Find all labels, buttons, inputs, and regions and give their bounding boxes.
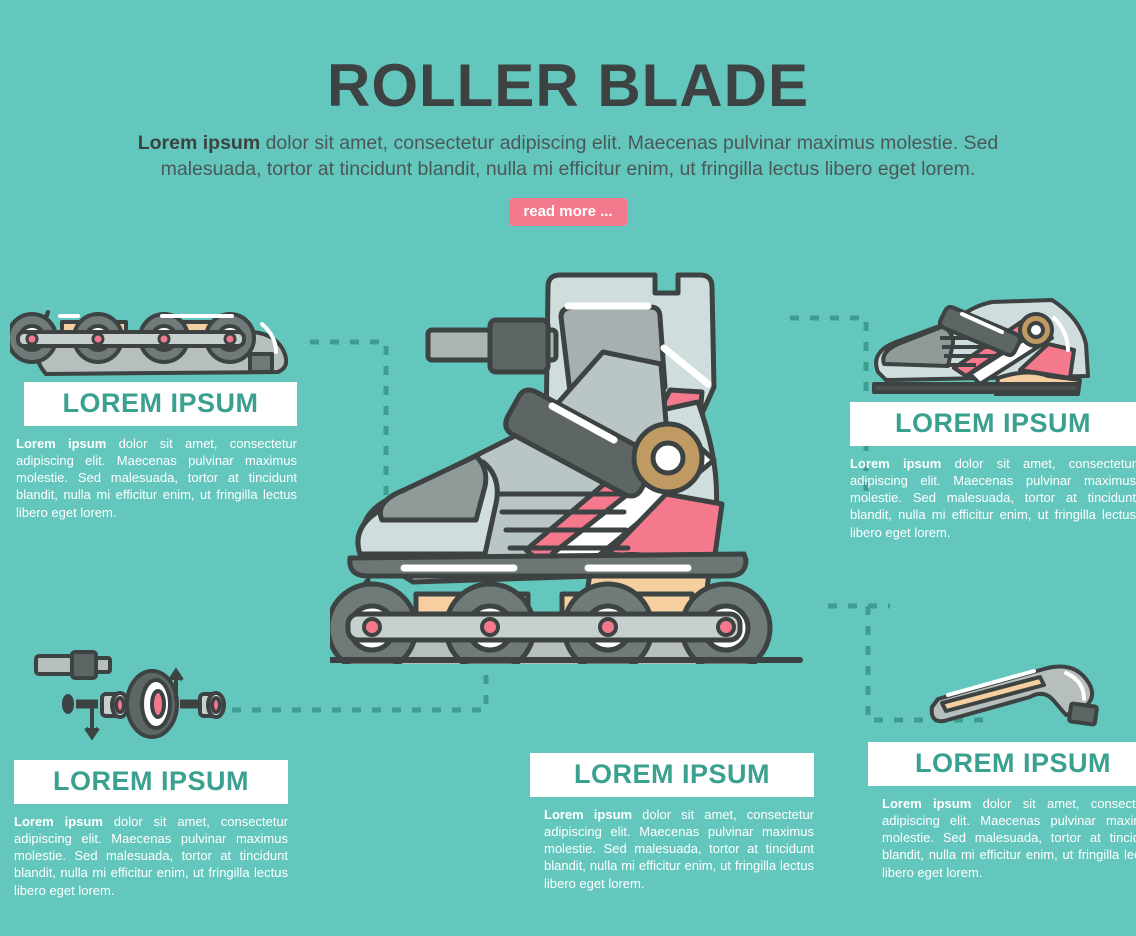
page-title: ROLLER BLADE bbox=[0, 54, 1136, 117]
wheel-nut bbox=[64, 696, 72, 712]
card-body-lead: Lorem ipsum bbox=[14, 814, 103, 829]
shoe-dial-inner bbox=[1029, 323, 1043, 337]
card-heading: LOREM IPSUM bbox=[14, 760, 288, 804]
wheel-tool-tip bbox=[96, 658, 110, 672]
brake-pad-mount bbox=[1069, 703, 1097, 724]
skate-buckle bbox=[490, 320, 548, 372]
info-card-frame: LOREM IPSUM Lorem ipsum dolor sit amet, … bbox=[0, 382, 297, 521]
subtitle-rest: dolor sit amet, consectetur adipiscing e… bbox=[161, 132, 999, 180]
page-header: ROLLER BLADE Lorem ipsum dolor sit amet,… bbox=[0, 54, 1136, 226]
skate-axle-rail-front bbox=[348, 614, 740, 640]
card-body: Lorem ipsum dolor sit amet, consectetur … bbox=[850, 455, 1136, 541]
card-body: Lorem ipsum dolor sit amet, consectetur … bbox=[16, 435, 297, 521]
wheel-exploded-illustration bbox=[30, 650, 230, 750]
wheel-spacer-left bbox=[102, 693, 128, 717]
page-subtitle: Lorem ipsum dolor sit amet, consectetur … bbox=[123, 131, 1013, 182]
skate-toe-overlay bbox=[380, 456, 485, 520]
card-body-lead: Lorem ipsum bbox=[544, 807, 632, 822]
skate-dial-inner bbox=[653, 443, 683, 473]
info-card-wheel: LOREM IPSUM Lorem ipsum dolor sit amet, … bbox=[0, 760, 288, 899]
card-body: Lorem ipsum dolor sit amet, consectetur … bbox=[882, 795, 1136, 881]
skate-frame-illustration bbox=[10, 298, 310, 376]
shoe-sole bbox=[874, 384, 1078, 392]
subtitle-lead: Lorem ipsum bbox=[138, 132, 260, 154]
card-body-lead: Lorem ipsum bbox=[850, 456, 941, 471]
infographic-page: ROLLER BLADE Lorem ipsum dolor sit amet,… bbox=[0, 0, 1136, 936]
info-card-brake: LOREM IPSUM Lorem ipsum dolor sit amet, … bbox=[868, 742, 1136, 881]
card-heading: LOREM IPSUM bbox=[530, 753, 814, 797]
wheel-spacer-right bbox=[200, 693, 224, 717]
wheel-tool-head bbox=[72, 652, 96, 678]
card-heading: LOREM IPSUM bbox=[868, 742, 1136, 786]
frame-axle-rail bbox=[18, 332, 244, 346]
card-heading: LOREM IPSUM bbox=[24, 382, 297, 426]
card-body: Lorem ipsum dolor sit amet, consectetur … bbox=[544, 806, 814, 892]
card-body-lead: Lorem ipsum bbox=[16, 436, 106, 451]
skate-boot-illustration bbox=[858, 298, 1126, 396]
card-body-lead: Lorem ipsum bbox=[882, 796, 971, 811]
wheel-bearing-core bbox=[152, 691, 164, 717]
frame-brake-mount bbox=[250, 354, 272, 372]
inline-skate-illustration bbox=[330, 262, 820, 664]
read-more-button[interactable]: read more ... bbox=[509, 198, 626, 226]
wheel-tool-handle bbox=[36, 656, 72, 674]
info-card-boot: LOREM IPSUM Lorem ipsum dolor sit amet, … bbox=[850, 402, 1136, 541]
info-card-center: LOREM IPSUM Lorem ipsum dolor sit amet, … bbox=[530, 753, 814, 892]
card-heading: LOREM IPSUM bbox=[850, 402, 1136, 446]
brake-rail-illustration bbox=[920, 655, 1120, 737]
card-body: Lorem ipsum dolor sit amet, consectetur … bbox=[14, 813, 288, 899]
